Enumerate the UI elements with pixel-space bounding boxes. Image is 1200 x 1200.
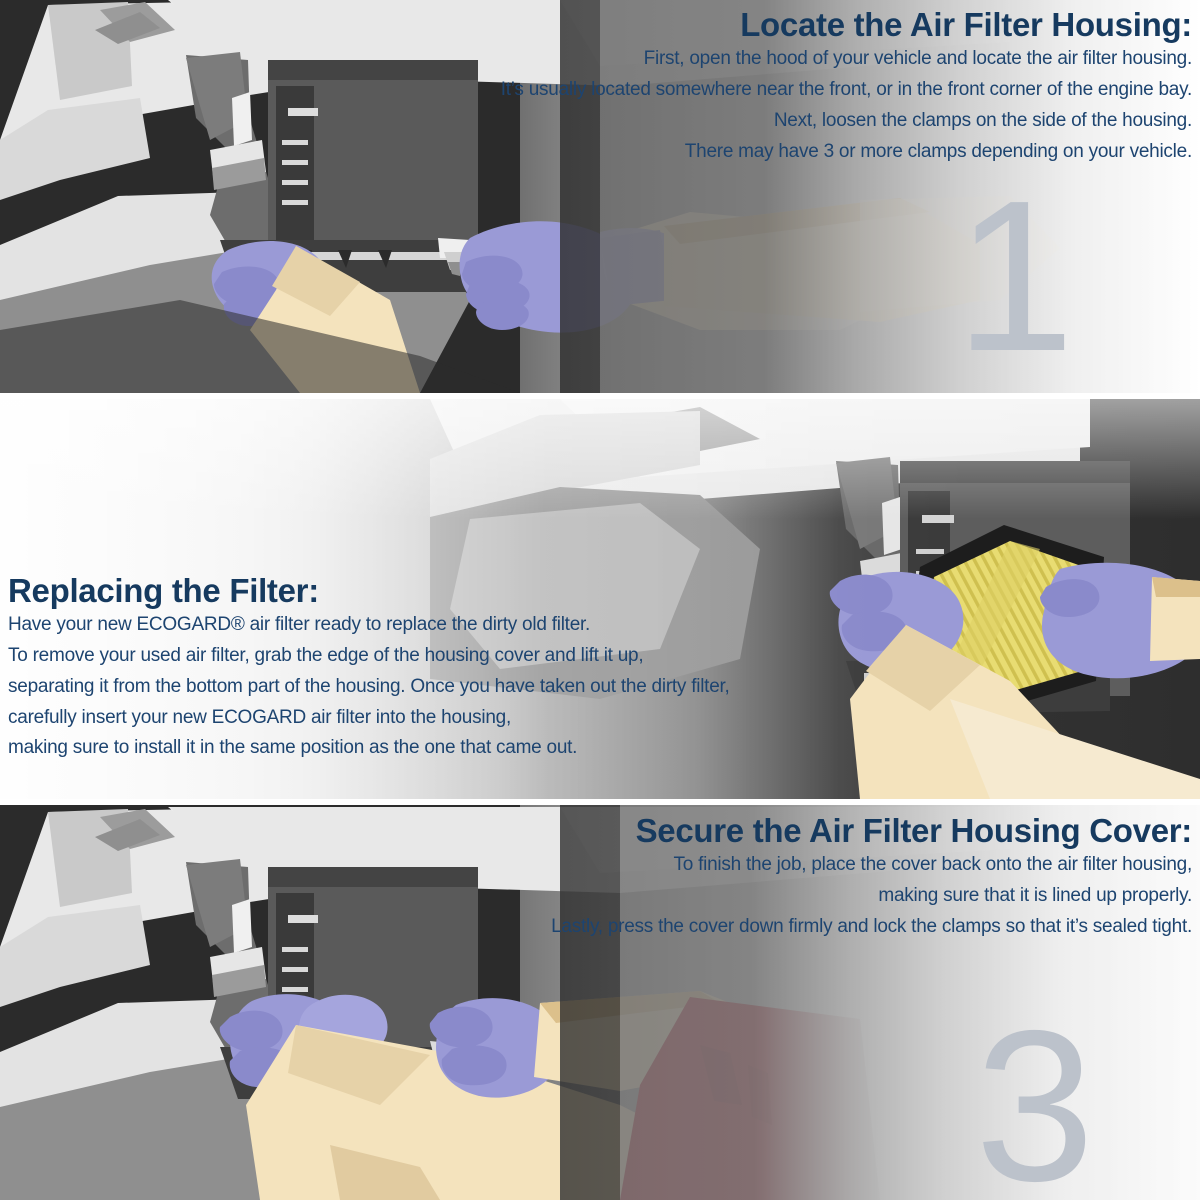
step-2-text-block: Replacing the Filter: Have your new ECOG…: [8, 572, 778, 764]
step-1-line-4: There may have 3 or more clamps dependin…: [452, 137, 1192, 168]
step-2-line-5: making sure to install it in the same po…: [8, 733, 778, 764]
step-1-line-1: First, open the hood of your vehicle and…: [452, 44, 1192, 75]
step-3-line-2: making sure that it is lined up properly…: [532, 881, 1192, 912]
step-3-line-3: Lastly, press the cover down firmly and …: [532, 912, 1192, 943]
step-number-3: 3: [975, 998, 1095, 1200]
panel-separator-1: [0, 393, 1200, 399]
step-2-line-1: Have your new ECOGARD® air filter ready …: [8, 610, 778, 641]
step-2-panel: 2 Replacing the Filter: Have your new EC…: [0, 399, 1200, 799]
step-2-line-4: carefully insert your new ECOGARD air fi…: [8, 703, 778, 734]
step-2-heading: Replacing the Filter:: [8, 572, 778, 610]
step-2-line-2: To remove your used air filter, grab the…: [8, 641, 778, 672]
step-number-2: 2: [95, 787, 215, 799]
step-3-line-1: To finish the job, place the cover back …: [532, 850, 1192, 881]
step-1-line-2: It’s usually located somewhere near the …: [452, 75, 1192, 106]
step-1-panel: Locate the Air Filter Housing: First, op…: [0, 0, 1200, 393]
step-1-line-3: Next, loosen the clamps on the side of t…: [452, 106, 1192, 137]
air-filter-instructions-infographic: Locate the Air Filter Housing: First, op…: [0, 0, 1200, 1200]
step-3-heading: Secure the Air Filter Housing Cover:: [532, 812, 1192, 850]
step-number-1: 1: [955, 168, 1075, 383]
panel-separator-2: [0, 799, 1200, 805]
step-3-panel: Secure the Air Filter Housing Cover: To …: [0, 805, 1200, 1200]
step-2-line-3: separating it from the bottom part of th…: [8, 672, 778, 703]
step-1-text-block: Locate the Air Filter Housing: First, op…: [452, 6, 1192, 167]
step-3-text-block: Secure the Air Filter Housing Cover: To …: [532, 812, 1192, 943]
step-1-heading: Locate the Air Filter Housing:: [452, 6, 1192, 44]
